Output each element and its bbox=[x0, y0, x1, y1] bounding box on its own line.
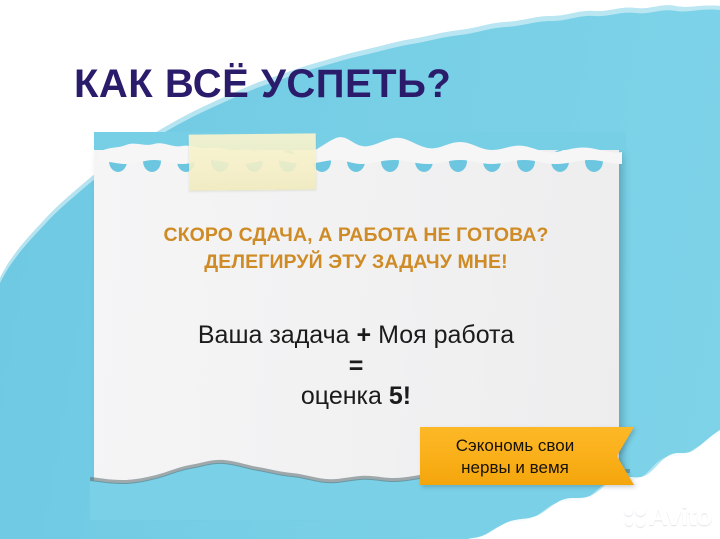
equation-line-3: оценка 5! bbox=[96, 381, 616, 412]
ribbon-line-1: Сэкономь свои bbox=[420, 435, 610, 457]
avito-wordmark: Avito bbox=[649, 501, 713, 532]
equation-line-1: Ваша задача + Моя работа bbox=[96, 320, 616, 351]
subheadline-line-1: СКОРО СДАЧА, А РАБОТА НЕ ГОТОВА? bbox=[163, 224, 548, 246]
ribbon-line-2: нервы и вемя bbox=[420, 457, 610, 479]
avito-dots-icon bbox=[624, 505, 646, 527]
poster-canvas: КАК ВСЁ УСПЕТЬ? СКОРО СДАЧА, А РАБОТА НЕ… bbox=[0, 0, 720, 539]
subheadline-line-2: ДЕЛЕГИРУЙ ЭТУ ЗАДАЧУ МНЕ! bbox=[96, 249, 616, 276]
equation-line-2: = bbox=[96, 351, 616, 382]
ribbon-text: Сэкономь свои нервы и вемя bbox=[420, 435, 610, 479]
avito-watermark: Avito bbox=[624, 499, 713, 533]
equation-block: Ваша задача + Моя работа = оценка 5! bbox=[96, 320, 616, 412]
ribbon-badge: Сэкономь свои нервы и вемя bbox=[420, 427, 634, 485]
page-title: КАК ВСЁ УСПЕТЬ? bbox=[74, 64, 634, 104]
subheadline: СКОРО СДАЧА, А РАБОТА НЕ ГОТОВА? ДЕЛЕГИР… bbox=[96, 222, 616, 276]
